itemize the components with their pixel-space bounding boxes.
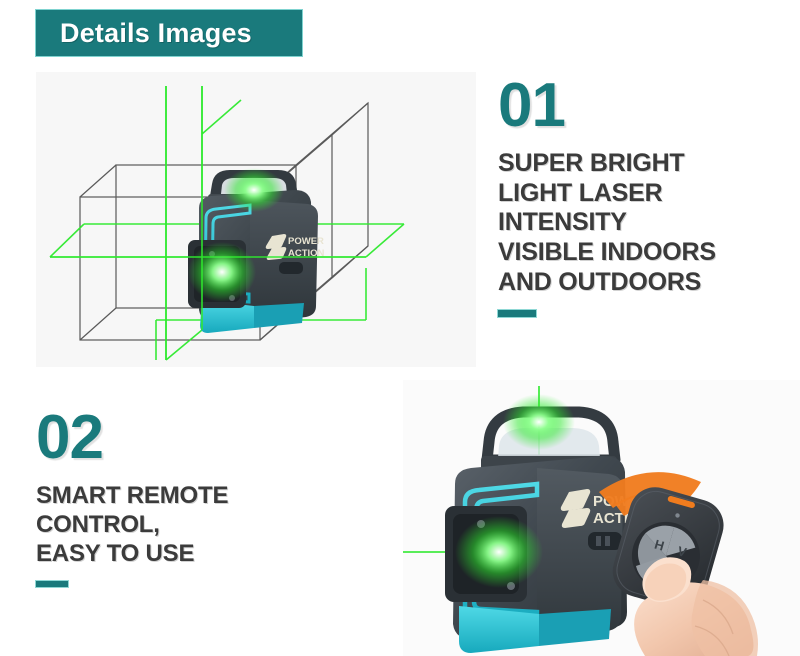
laser-glow-top-2 [503, 394, 575, 450]
feature-number-01: 01 [498, 76, 794, 137]
page-title: Details Images [36, 18, 252, 49]
feature-block-02: 02 SMART REMOTE CONTROL, EASY TO USE [36, 408, 336, 587]
laser-cube-illustration: POWER ACTION [36, 72, 476, 367]
laser-glow-front-2 [455, 516, 543, 588]
feature-text-02: SMART REMOTE CONTROL, EASY TO USE [36, 481, 336, 569]
feature-text-01: SUPER BRIGHT LIGHT LASER INTENSITY VISIB… [498, 149, 794, 298]
feature-block-01: 01 SUPER BRIGHT LIGHT LASER INTENSITY VI… [498, 76, 794, 317]
product-image-laser-cube: POWER ACTION [36, 72, 476, 367]
remote-control-illustration: POWER ACTION [403, 380, 800, 656]
laser-glow-top [224, 168, 284, 212]
product-image-remote-control: POWER ACTION [403, 380, 800, 656]
laser-glow-front [188, 242, 256, 302]
svg-text:POWER: POWER [288, 236, 324, 247]
feature-number-02: 02 [36, 408, 336, 469]
feature-accent-dash-02 [36, 581, 68, 587]
section-banner: Details Images [36, 10, 302, 56]
details-images-page: Details Images [0, 0, 800, 656]
feature-accent-dash-01 [498, 310, 536, 317]
